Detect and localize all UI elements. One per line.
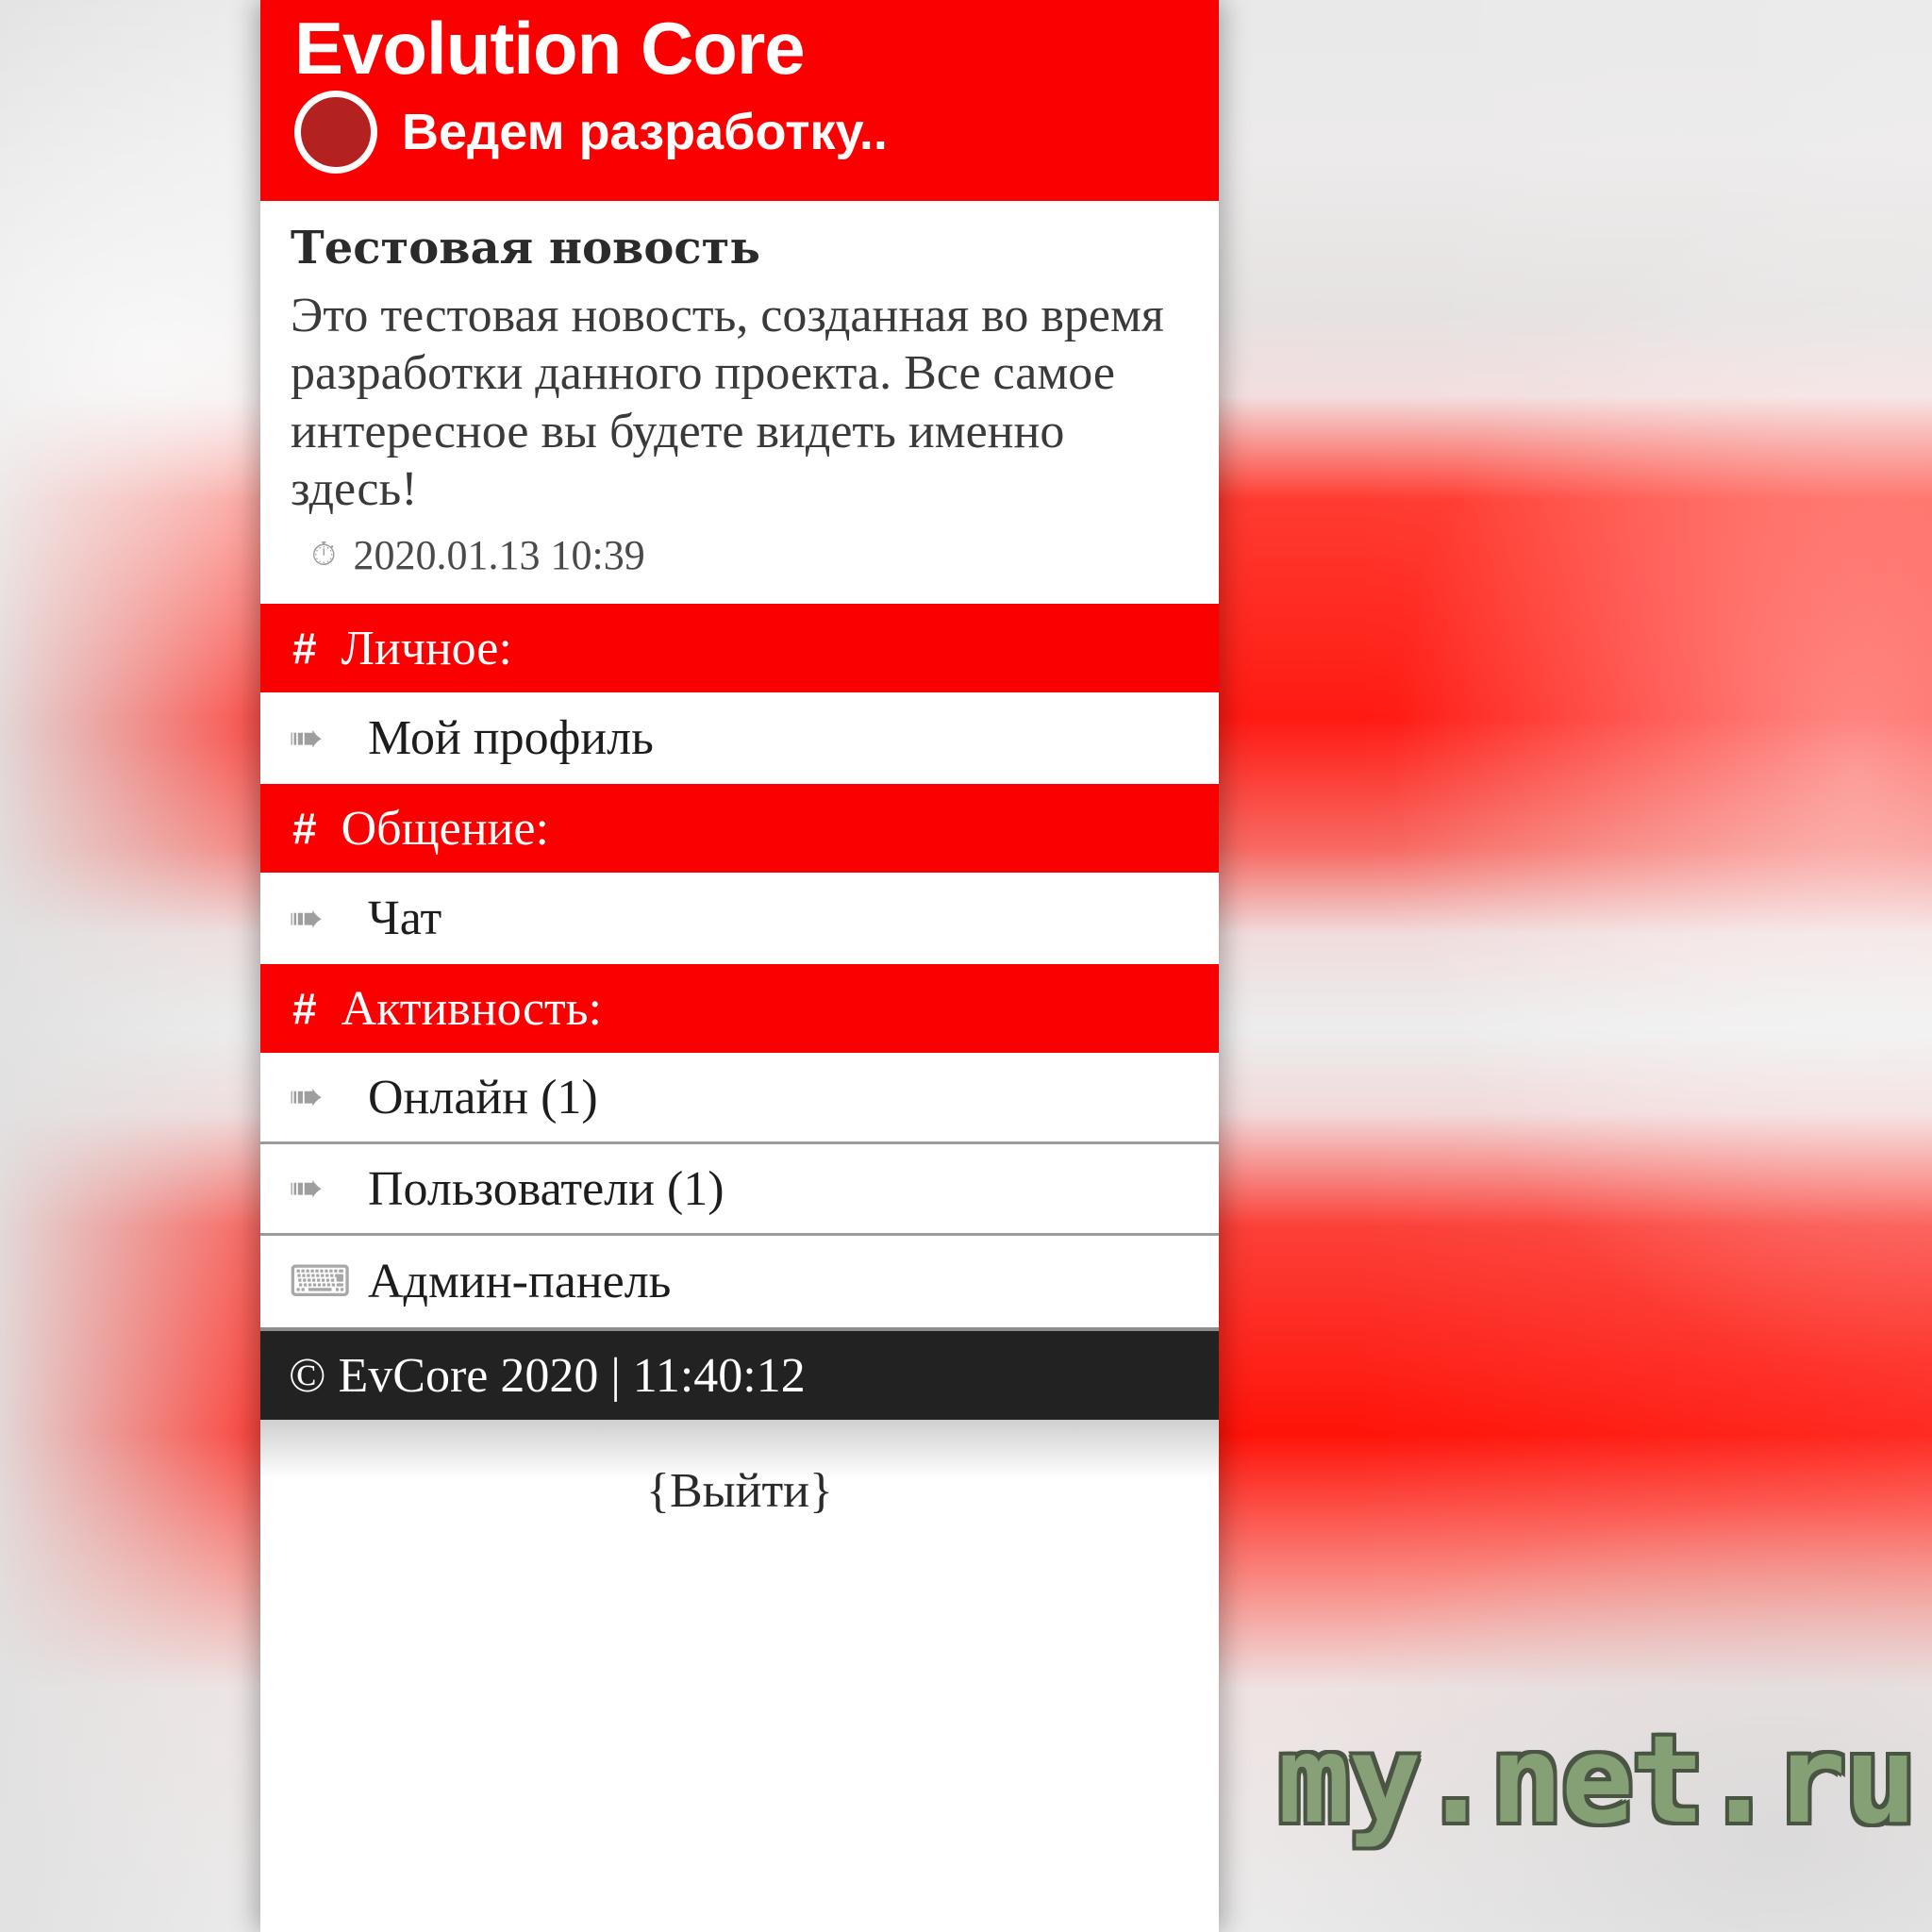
- logout-zone[interactable]: {Выйти}: [260, 1420, 1219, 1561]
- stopwatch-icon: ⏱: [311, 540, 337, 572]
- logout-link[interactable]: {Выйти}: [646, 1463, 833, 1519]
- news-meta: ⏱ 2020.01.13 10:39: [291, 531, 1189, 579]
- hash-icon: #: [292, 623, 317, 674]
- footer-copyright-text: © EvCore 2020 | 11:40:12: [289, 1348, 806, 1404]
- menu-item-label: Пользователи (1): [368, 1161, 724, 1217]
- hash-icon: #: [292, 803, 317, 854]
- menu-item-label: Чат: [368, 891, 441, 946]
- mobile-page-column: Evolution Core Ведем разработку.. Тестов…: [260, 0, 1219, 1932]
- menu-section-activity-heading: # Активность:: [260, 964, 1219, 1053]
- news-title: Тестовая новость: [291, 224, 1189, 274]
- menu-item-admin-panel[interactable]: ⌨ Админ-панель: [260, 1236, 1219, 1327]
- menu-item-label: Онлайн (1): [368, 1070, 598, 1125]
- news-timestamp: 2020.01.13 10:39: [354, 531, 645, 579]
- news-card: Тестовая новость Это тестовая новость, с…: [260, 201, 1219, 604]
- menu-item-users[interactable]: ➠ Пользователи (1): [260, 1144, 1219, 1236]
- menu-item-label: Админ-панель: [368, 1254, 671, 1309]
- menu-section-label: Активность:: [341, 981, 602, 1037]
- menu-section-personal-heading: # Личное:: [260, 604, 1219, 692]
- menu-section-label: Личное:: [341, 621, 512, 676]
- menu-item-label: Мой профиль: [368, 710, 654, 766]
- brand-row: Ведем разработку..: [294, 91, 1219, 174]
- news-body: Это тестовая новость, созданная во время…: [291, 287, 1189, 518]
- arrow-icon: ➠: [289, 1168, 343, 1209]
- keyboard-icon: ⌨: [289, 1260, 343, 1304]
- menu-item-chat[interactable]: ➠ Чат: [260, 873, 1219, 964]
- menu-section-label: Общение:: [341, 801, 549, 857]
- hash-icon: #: [292, 983, 317, 1034]
- site-header: Evolution Core Ведем разработку..: [260, 0, 1219, 201]
- menu-item-my-profile[interactable]: ➠ Мой профиль: [260, 692, 1219, 784]
- brand-title: Evolution Core: [294, 0, 1219, 85]
- filled-circle-icon: [294, 91, 377, 174]
- footer-copyright-bar: © EvCore 2020 | 11:40:12: [260, 1327, 1219, 1420]
- arrow-icon: ➠: [289, 898, 343, 940]
- arrow-icon: ➠: [289, 1076, 343, 1118]
- menu-item-online[interactable]: ➠ Онлайн (1): [260, 1053, 1219, 1144]
- brand-slogan: Ведем разработку..: [402, 107, 888, 158]
- menu-section-communication-heading: # Общение:: [260, 784, 1219, 873]
- arrow-icon: ➠: [289, 718, 343, 759]
